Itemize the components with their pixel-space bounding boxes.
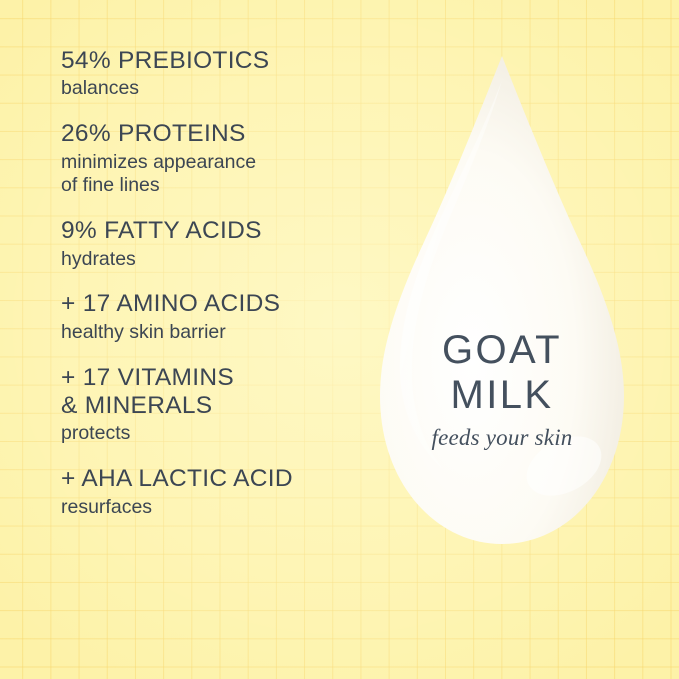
benefit-subtitle: minimizes appearance of fine lines (61, 151, 381, 199)
list-item: + AHA LACTIC ACID resurfaces (61, 465, 381, 519)
benefit-title: 26% PROTEINS (61, 120, 381, 148)
benefit-subtitle: healthy skin barrier (61, 321, 381, 345)
list-item: 54% PREBIOTICS balances (61, 47, 381, 101)
benefit-title: + AHA LACTIC ACID (61, 465, 381, 493)
list-item: 26% PROTEINS minimizes appearance of fin… (61, 120, 381, 198)
list-item: + 17 VITAMINS & MINERALS protects (61, 364, 381, 447)
milk-droplet-graphic: GOAT MILK feeds your skin (352, 46, 652, 606)
benefits-list: 54% PREBIOTICS balances 26% PROTEINS min… (61, 47, 381, 538)
list-item: 9% FATTY ACIDS hydrates (61, 217, 381, 271)
benefit-title: 54% PREBIOTICS (61, 47, 381, 75)
benefit-subtitle: resurfaces (61, 496, 381, 520)
benefit-title: 9% FATTY ACIDS (61, 217, 381, 245)
milk-droplet-icon (352, 46, 652, 606)
list-item: + 17 AMINO ACIDS healthy skin barrier (61, 290, 381, 344)
benefit-subtitle: balances (61, 77, 381, 101)
benefit-subtitle: hydrates (61, 248, 381, 272)
product-benefits-graphic: 54% PREBIOTICS balances 26% PROTEINS min… (0, 0, 679, 679)
benefit-subtitle: protects (61, 422, 381, 446)
benefit-title: + 17 AMINO ACIDS (61, 290, 381, 318)
benefit-title: + 17 VITAMINS & MINERALS (61, 364, 381, 421)
